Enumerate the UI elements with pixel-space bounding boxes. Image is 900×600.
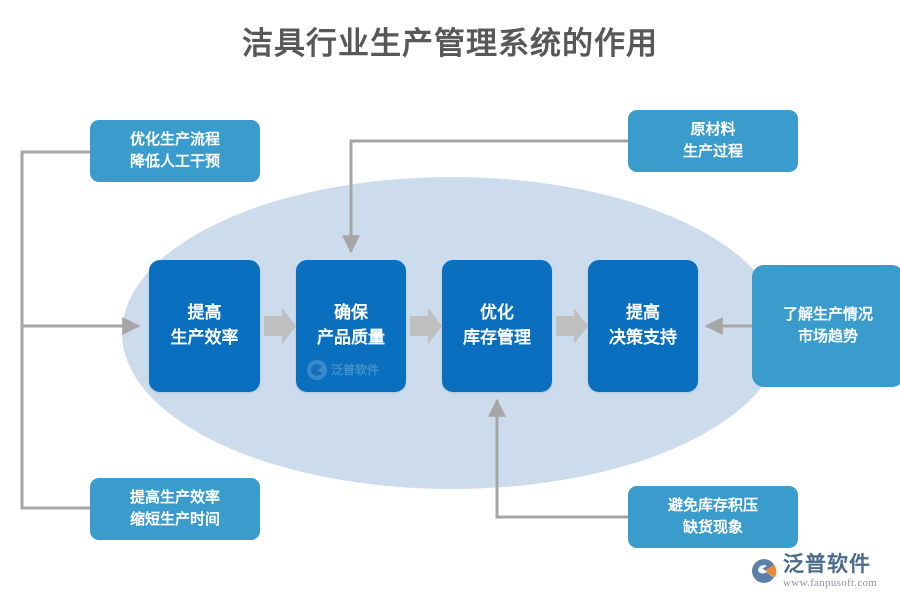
block-arrow-3-to-4 — [556, 308, 588, 344]
side-box-line1: 提高生产效率 — [130, 487, 220, 510]
connector-left-bracket — [22, 152, 139, 508]
block-arrow-2-to-3 — [410, 308, 442, 344]
fanpu-logo-icon — [748, 555, 780, 587]
brand-text: 泛普软件 www.fanpusoft.com — [783, 554, 877, 589]
side-box-shorten-time[interactable]: 提高生产效率 缩短生产时间 — [90, 478, 260, 540]
brand-name: 泛普软件 — [783, 554, 877, 575]
process-box-line2: 决策支持 — [609, 326, 677, 351]
connector-raw-material — [351, 141, 628, 252]
side-box-avoid-overstock[interactable]: 避免库存积压 缺货现象 — [628, 486, 798, 548]
diagram-canvas: 洁具行业生产管理系统的作用 — [0, 0, 900, 600]
process-box-line2: 库存管理 — [463, 326, 531, 351]
side-box-optimize-process[interactable]: 优化生产流程 降低人工干预 — [90, 120, 260, 182]
side-box-line2: 降低人工干预 — [130, 151, 220, 174]
process-box-line1: 确保 — [334, 301, 368, 326]
process-box-line1: 提高 — [188, 301, 222, 326]
side-box-line2: 缩短生产时间 — [130, 509, 220, 532]
side-box-line1: 了解生产情况 — [783, 304, 873, 327]
process-box-improve-decision[interactable]: 提高 决策支持 — [588, 260, 698, 392]
process-box-line2: 生产效率 — [171, 326, 239, 351]
process-box-line1: 优化 — [480, 301, 514, 326]
side-box-line2: 缺货现象 — [683, 517, 743, 540]
side-box-line2: 生产过程 — [683, 141, 743, 164]
side-box-line1: 优化生产流程 — [130, 129, 220, 152]
brand-logo: 泛普软件 www.fanpusoft.com — [748, 548, 896, 594]
process-box-improve-efficiency[interactable]: 提高 生产效率 — [149, 260, 260, 392]
side-box-line2: 市场趋势 — [798, 326, 858, 349]
svg-text:泛普软件: 泛普软件 — [331, 362, 379, 377]
process-box-line1: 提高 — [626, 301, 660, 326]
process-box-optimize-inventory[interactable]: 优化 库存管理 — [442, 260, 552, 392]
side-box-line1: 原材料 — [690, 119, 735, 142]
side-box-line1: 避免库存积压 — [668, 495, 758, 518]
process-box-ensure-quality[interactable]: 确保 产品质量 泛普软件 — [296, 260, 406, 392]
block-arrow-1-to-2 — [264, 308, 296, 344]
side-box-know-production[interactable]: 了解生产情况 市场趋势 — [752, 265, 900, 387]
side-box-raw-material[interactable]: 原材料 生产过程 — [628, 110, 798, 172]
connector-avoid-overstock — [497, 400, 628, 517]
process-box-line2: 产品质量 — [317, 326, 385, 351]
brand-url: www.fanpusoft.com — [783, 578, 877, 589]
watermark-logo-icon: 泛普软件 — [304, 358, 400, 384]
